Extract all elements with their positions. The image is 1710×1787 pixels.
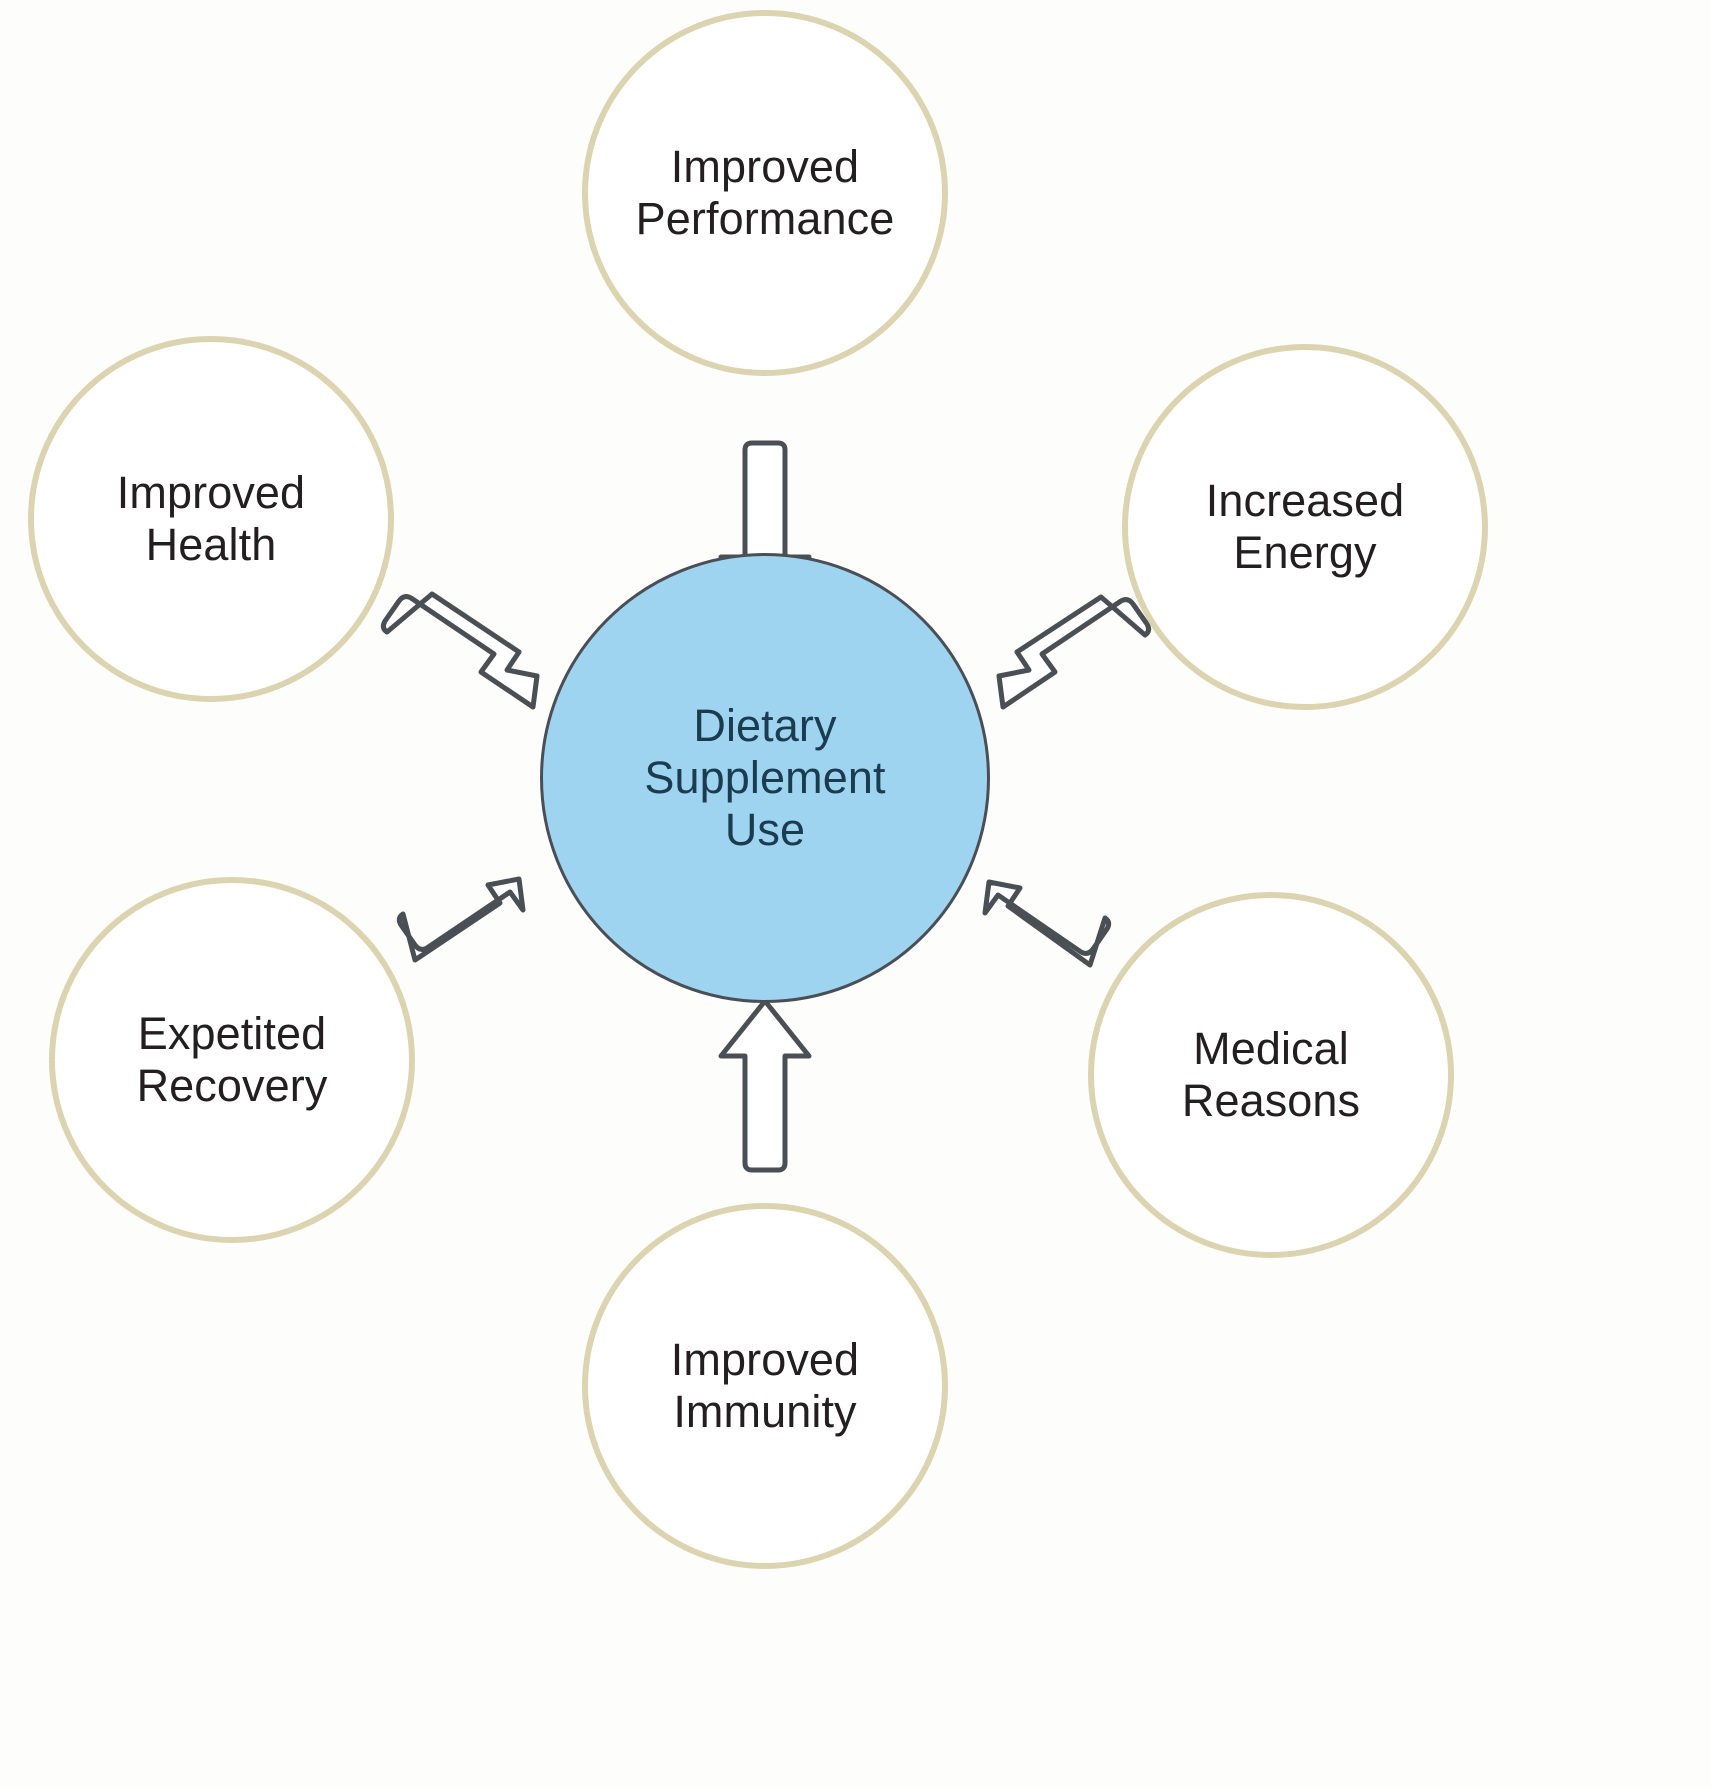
node-improved-immunity[interactable]: Improved Immunity: [582, 1203, 948, 1569]
center-node-label: Dietary Supplement Use: [634, 700, 895, 857]
arrow-from-expetited-recovery: [399, 879, 523, 960]
arrow-from-medical-reasons: [985, 882, 1109, 965]
node-increased-energy-label: Increased Energy: [1196, 475, 1415, 579]
arrow-from-improved-immunity: [721, 1001, 809, 1170]
arrow-from-increased-energy: [999, 597, 1149, 707]
center-node-dietary-supplement-use[interactable]: Dietary Supplement Use: [540, 553, 990, 1003]
node-improved-health-label: Improved Health: [107, 467, 315, 571]
node-medical-reasons[interactable]: Medical Reasons: [1088, 892, 1454, 1258]
node-improved-performance-label: Improved Performance: [626, 141, 905, 245]
node-expetited-recovery-label: Expetited Recovery: [127, 1008, 338, 1112]
node-improved-performance[interactable]: Improved Performance: [582, 10, 948, 376]
arrow-from-improved-health: [383, 594, 537, 707]
node-expetited-recovery[interactable]: Expetited Recovery: [49, 877, 415, 1243]
node-improved-health[interactable]: Improved Health: [28, 336, 394, 702]
node-medical-reasons-label: Medical Reasons: [1172, 1023, 1370, 1127]
node-increased-energy[interactable]: Increased Energy: [1122, 344, 1488, 710]
diagram-canvas: Dietary Supplement Use Improved Performa…: [0, 0, 1710, 1787]
node-improved-immunity-label: Improved Immunity: [661, 1334, 869, 1438]
